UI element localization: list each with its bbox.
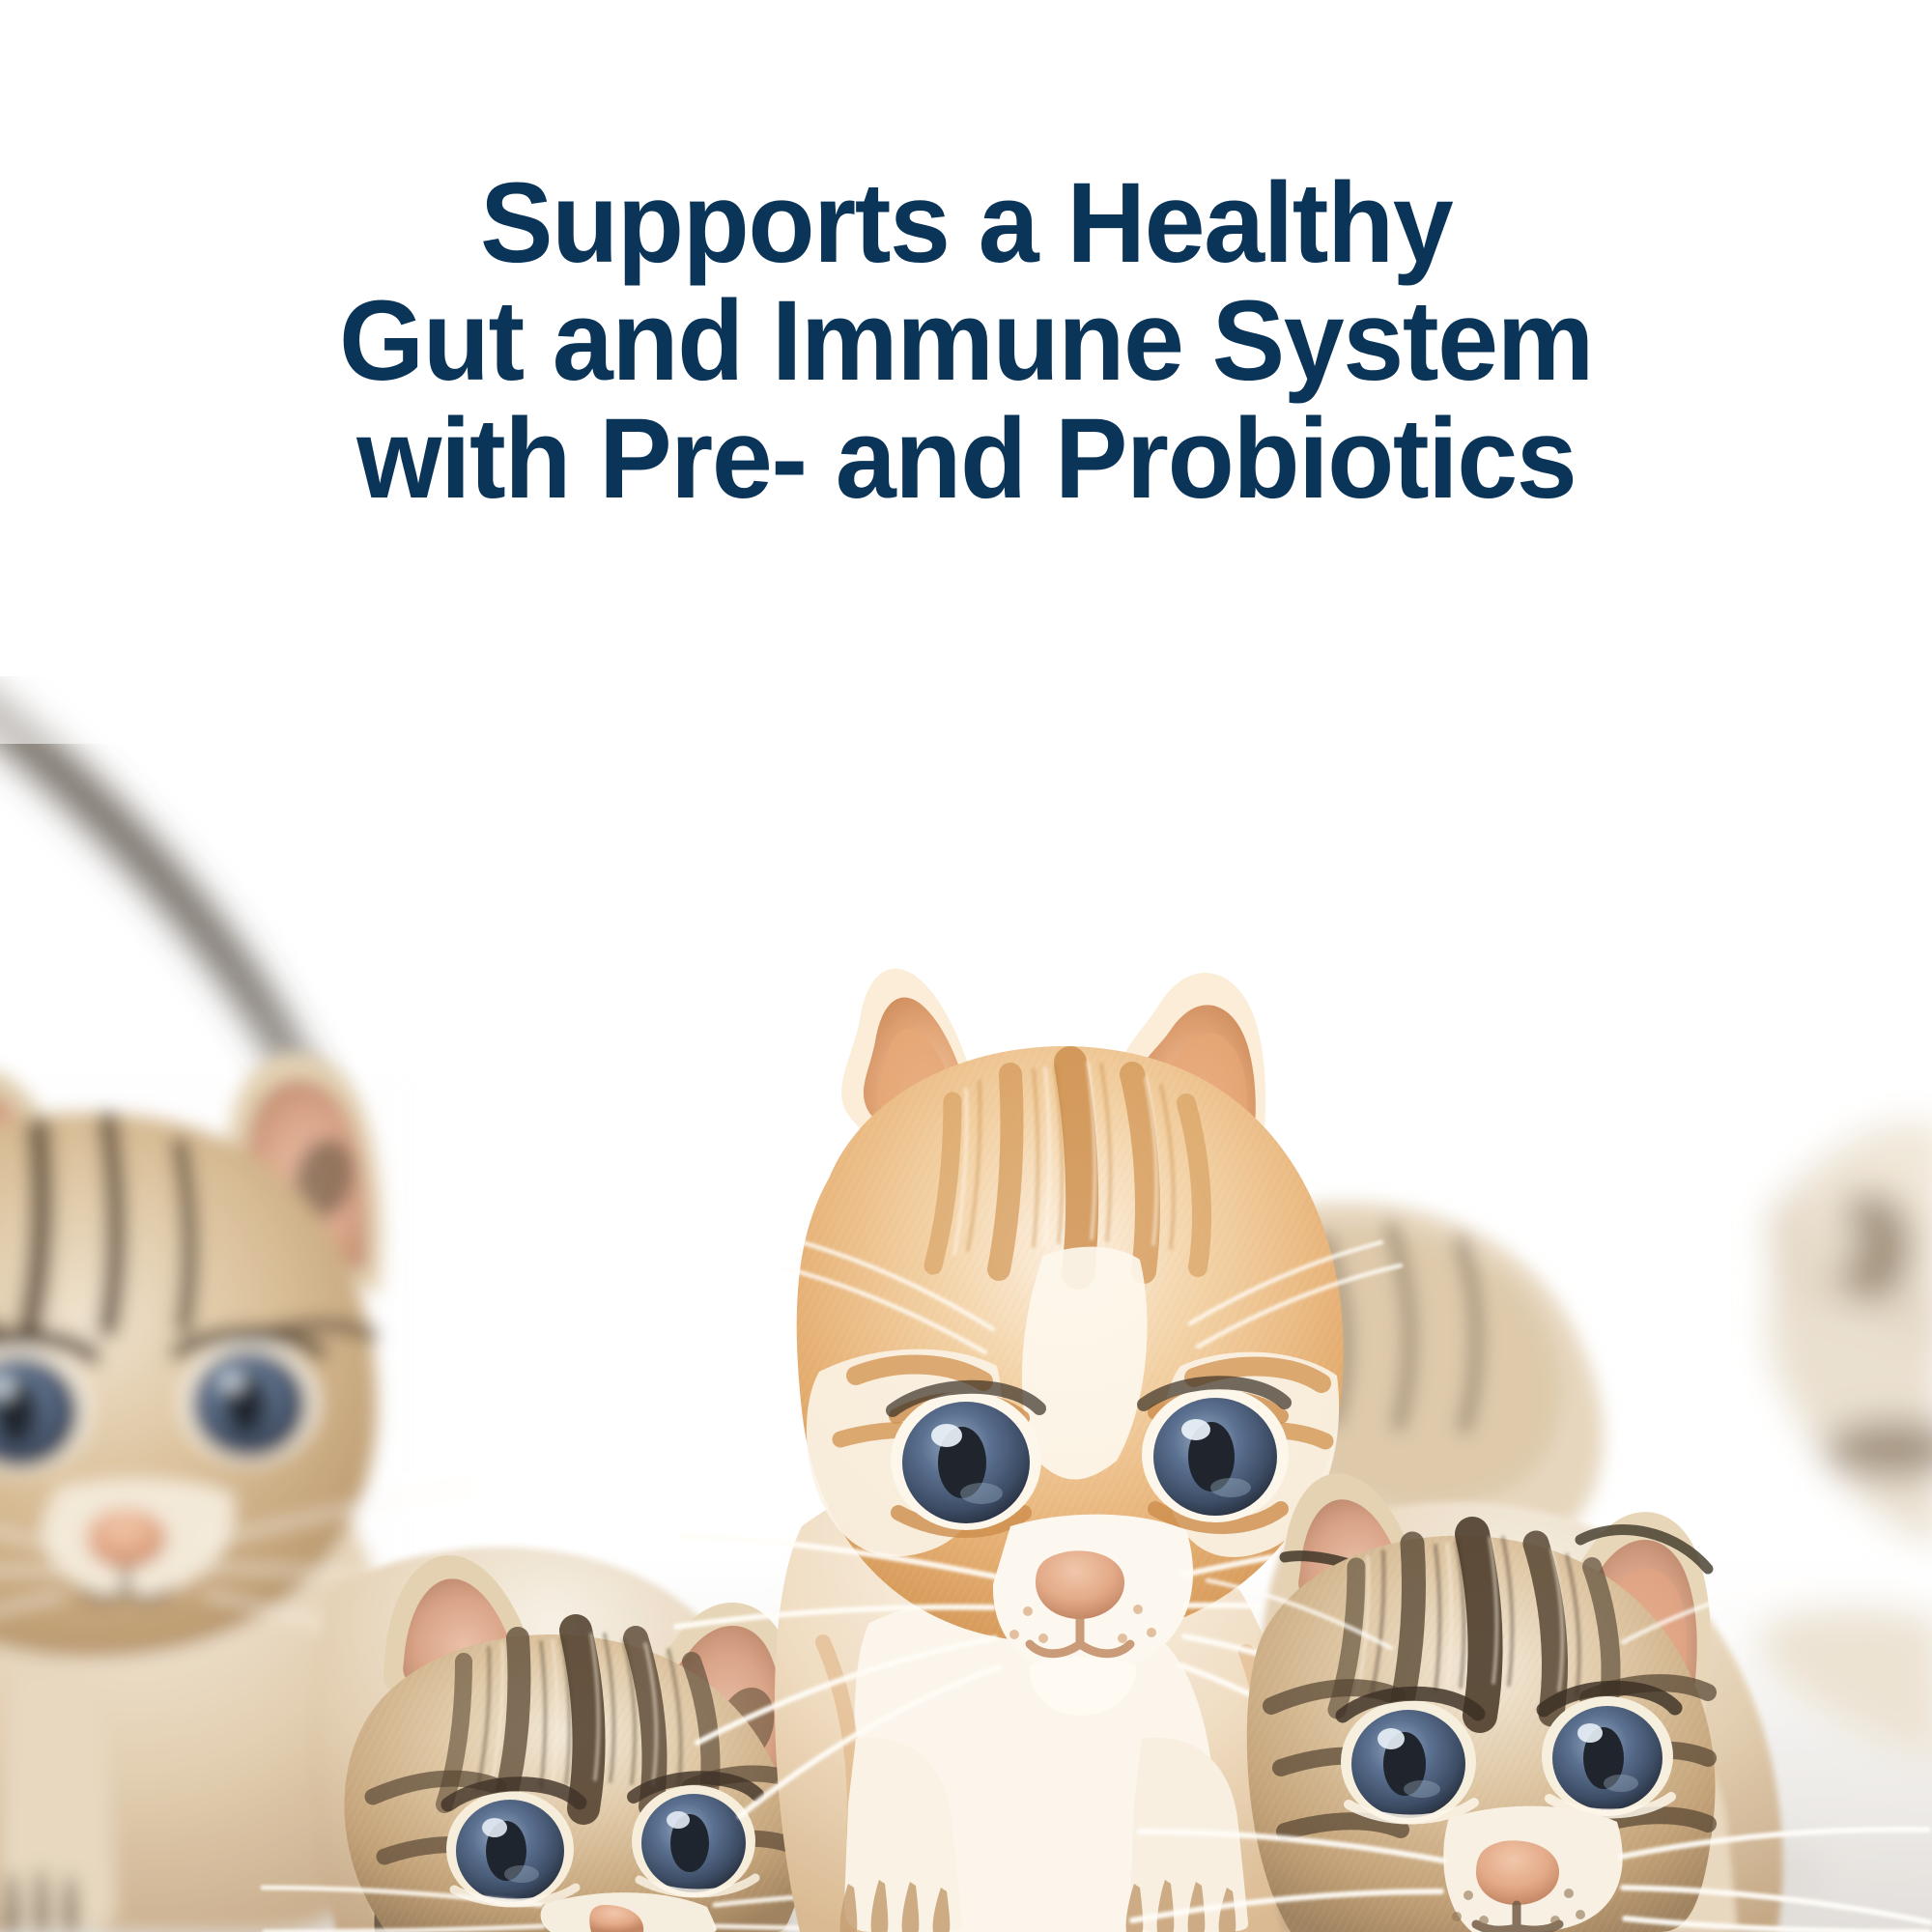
headline-band: Supports a Healthy Gut and Immune System… bbox=[0, 0, 1932, 676]
headline-line-2: Gut and Immune System bbox=[339, 282, 1593, 400]
headline-line-3: with Pre- and Probiotics bbox=[356, 400, 1576, 518]
poster-root: Supports a Healthy Gut and Immune System… bbox=[0, 0, 1932, 1932]
kitten-photo-illustration bbox=[0, 676, 1932, 1932]
kitten-photo bbox=[0, 676, 1932, 1932]
headline-line-1: Supports a Healthy bbox=[480, 164, 1452, 282]
